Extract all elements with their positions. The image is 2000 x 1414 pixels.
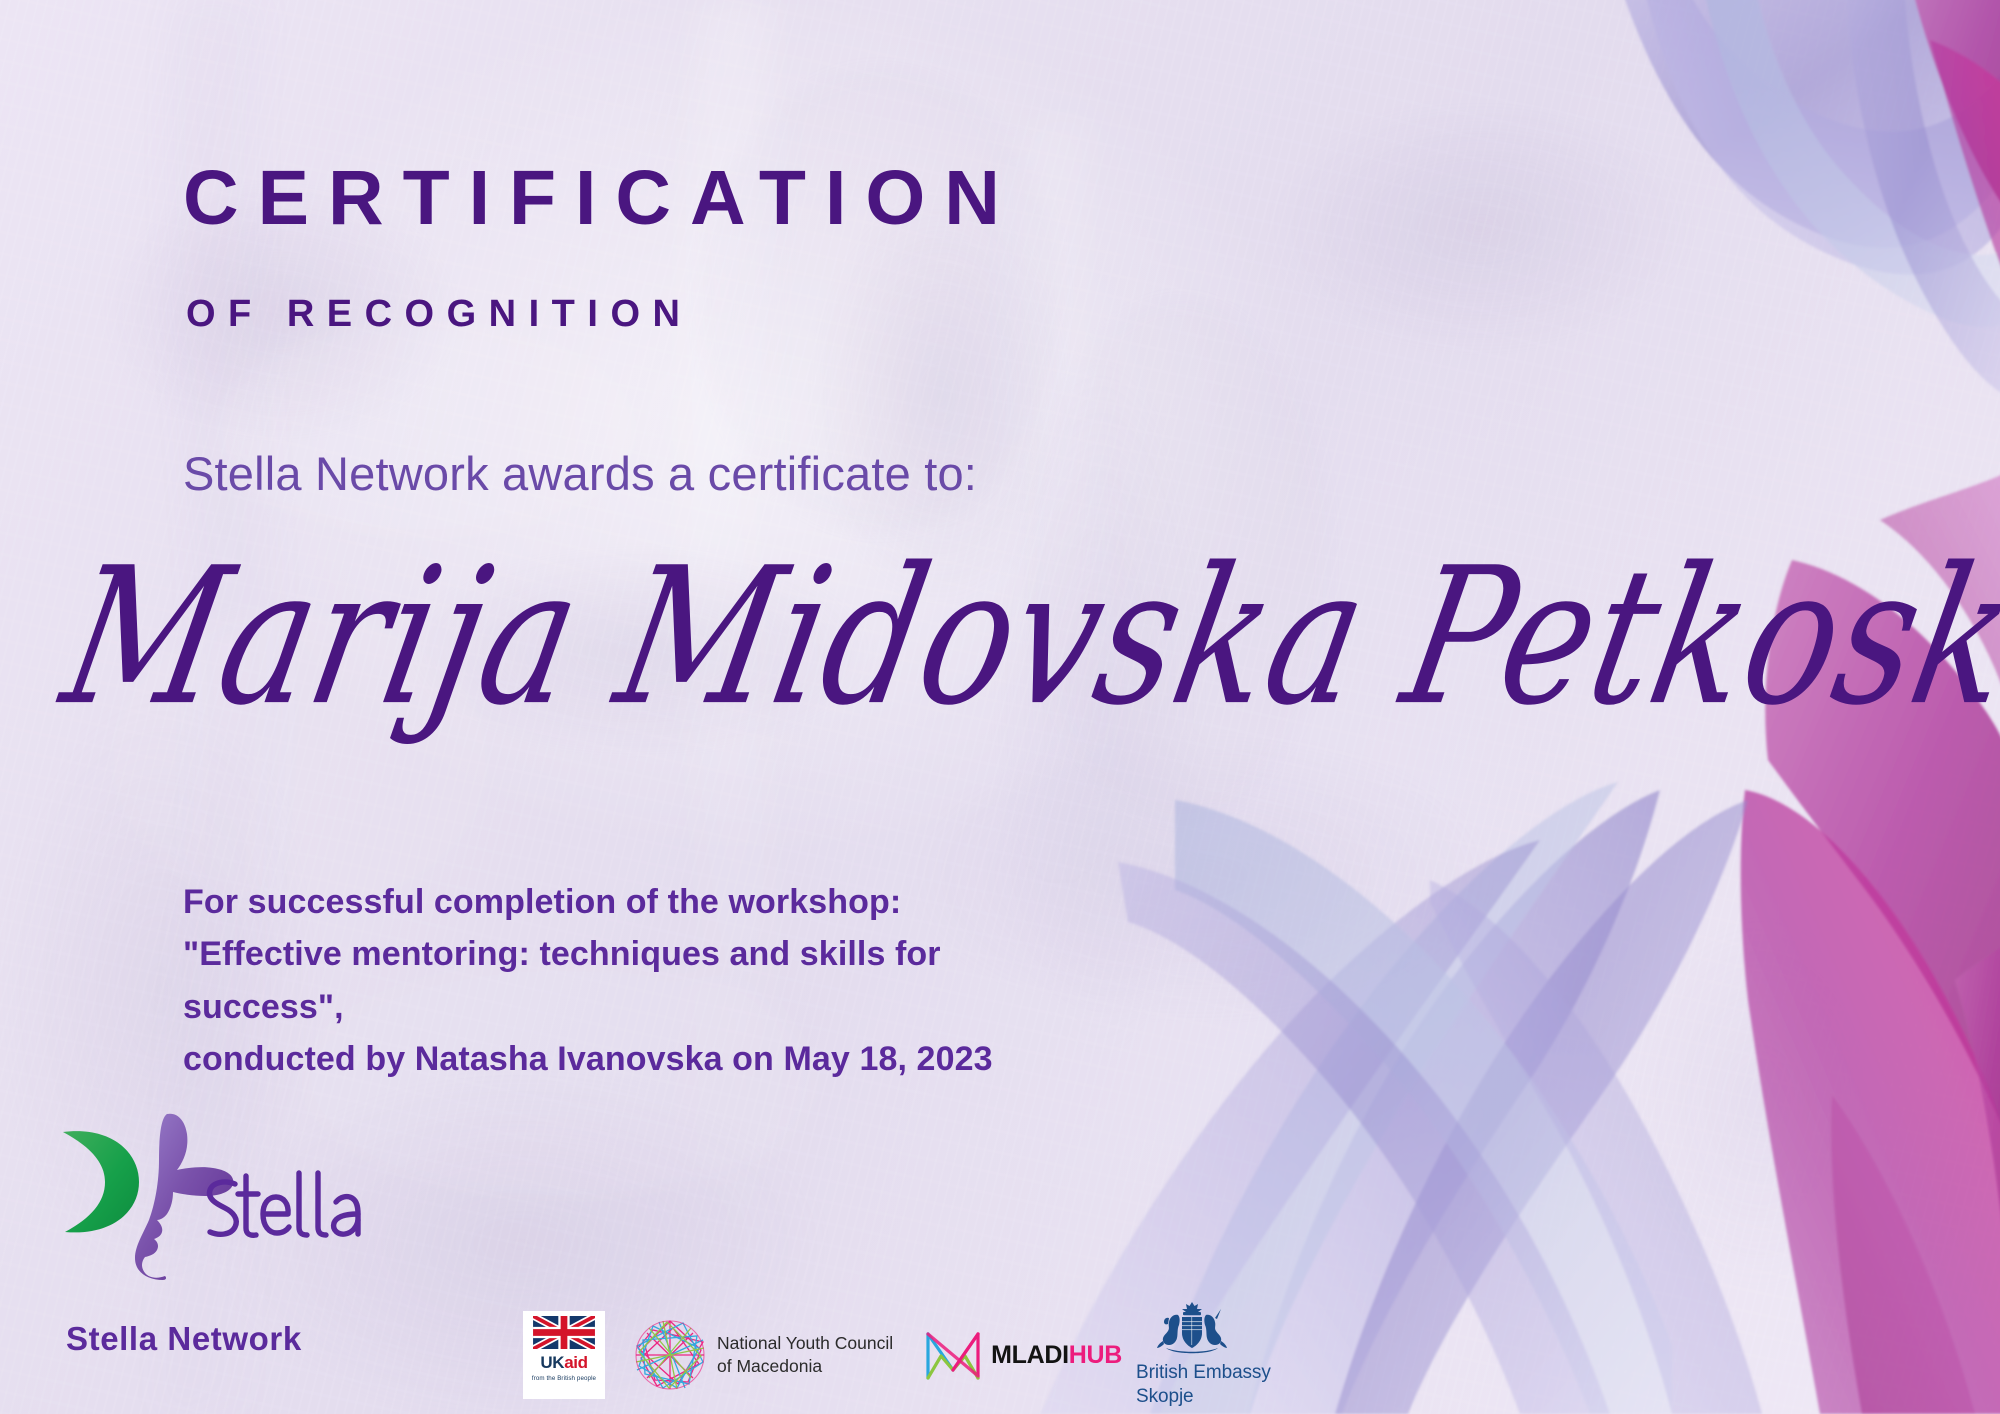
ukaid-aid-text: aid	[564, 1353, 587, 1372]
network-sphere-icon	[633, 1318, 707, 1392]
stella-purple-profile	[135, 1114, 233, 1280]
mladihub-hub-text: HUB	[1069, 1341, 1122, 1369]
stella-logo	[55, 1110, 375, 1280]
mladihub-logo: MLADIHUB	[923, 1326, 1122, 1384]
recipient-name: Marija Midovska Petkoska	[51, 540, 1730, 738]
national-youth-council-logo: National Youth Council of Macedonia	[633, 1318, 893, 1392]
page-subtitle: OF RECOGNITION	[186, 295, 692, 333]
awards-line: Stella Network awards a certificate to:	[183, 446, 977, 501]
stella-wordmark	[209, 1173, 358, 1235]
page-title: CERTIFICATION	[183, 160, 1019, 237]
mladihub-mladi-text: MLADI	[991, 1341, 1069, 1369]
stella-green-swoosh	[63, 1131, 139, 1232]
national-youth-council-name: National Youth Council of Macedonia	[717, 1332, 893, 1378]
body-text: For successful completion of the worksho…	[183, 876, 993, 1085]
union-jack-icon	[533, 1316, 595, 1349]
certificate-content: CERTIFICATION OF RECOGNITION Stella Netw…	[0, 0, 2000, 1414]
british-embassy-name: British Embassy Skopje	[1136, 1361, 1271, 1409]
issuer-label: Stella Network	[66, 1320, 302, 1358]
ukaid-uk-text: UK	[540, 1353, 564, 1372]
partner-logos: UKaid from the British people	[523, 1305, 1271, 1405]
certificate-canvas: CERTIFICATION OF RECOGNITION Stella Netw…	[0, 0, 2000, 1414]
british-embassy-logo: British Embassy Skopje	[1136, 1301, 1271, 1409]
ukaid-logo: UKaid from the British people	[523, 1311, 605, 1399]
royal-coat-of-arms-icon	[1136, 1301, 1248, 1357]
ukaid-tagline: from the British people	[532, 1375, 596, 1382]
mladihub-m-icon	[923, 1326, 983, 1384]
